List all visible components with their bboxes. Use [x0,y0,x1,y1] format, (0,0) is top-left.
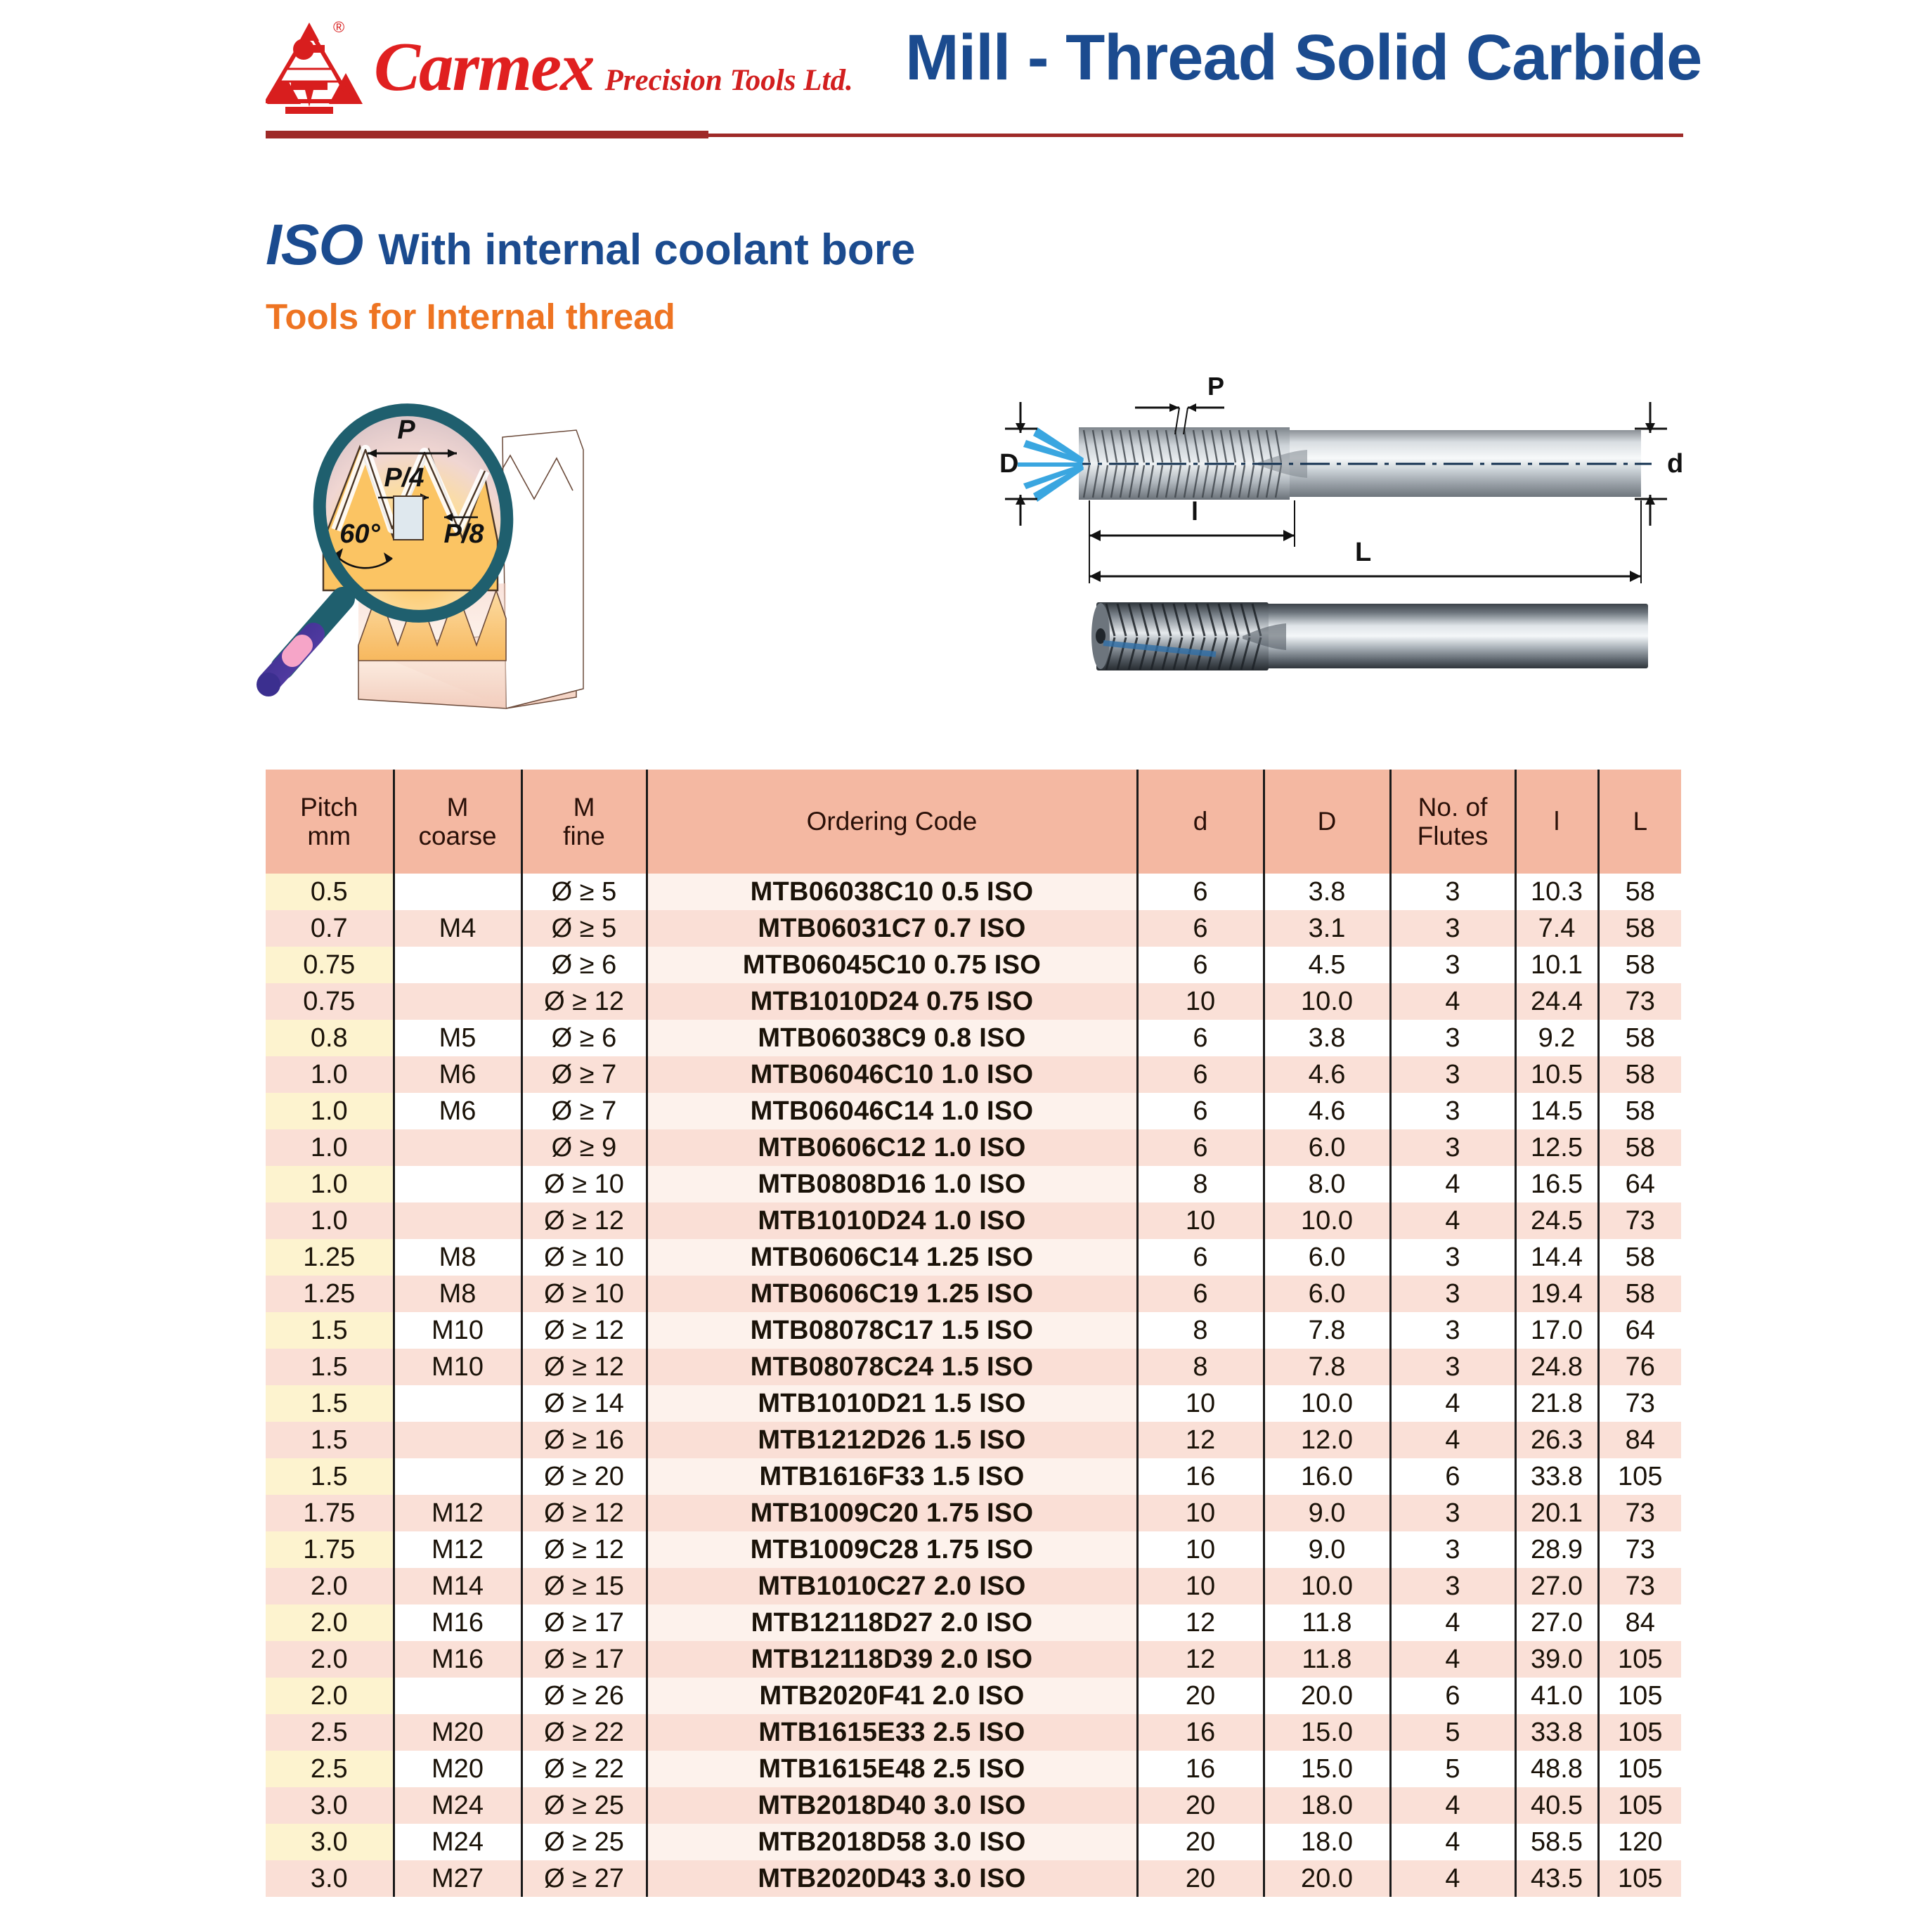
header-rule-thick [266,131,708,138]
cell-L: 58 [1598,1129,1681,1166]
cell-d: 10 [1137,1531,1264,1568]
cell-d: 10 [1137,1385,1264,1422]
cell-pitch: 1.0 [266,1202,394,1239]
cell-flutes: 3 [1390,874,1515,910]
cell-l: 10.3 [1515,874,1598,910]
cell-m-fine: Ø ≥ 14 [521,1385,647,1422]
cell-pitch: 0.7 [266,910,394,947]
col-header-pitch-line1: Pitch [266,793,393,822]
cell-l: 40.5 [1515,1787,1598,1824]
cell-pitch: 2.0 [266,1641,394,1678]
cell-flutes: 3 [1390,1349,1515,1385]
cell-L: 105 [1598,1751,1681,1787]
cell-m-coarse [394,874,521,910]
table-body: 0.5Ø ≥ 5MTB06038C10 0.5 ISO63.8310.3580.… [266,874,1681,1897]
cell-flutes: 3 [1390,1312,1515,1349]
table-row: 2.0M16Ø ≥ 17MTB12118D39 2.0 ISO1211.8439… [266,1641,1681,1678]
cell-L: 105 [1598,1787,1681,1824]
cell-ordering-code: MTB2018D58 3.0 ISO [647,1824,1137,1860]
cell-flutes: 3 [1390,1276,1515,1312]
cell-d: 6 [1137,874,1264,910]
cell-flutes: 4 [1390,1385,1515,1422]
cell-m-fine: Ø ≥ 25 [521,1787,647,1824]
cell-m-coarse [394,1678,521,1714]
cell-ordering-code: MTB1009C28 1.75 ISO [647,1531,1137,1568]
cell-d: 6 [1137,910,1264,947]
cell-ordering-code: MTB1616F33 1.5 ISO [647,1458,1137,1495]
cell-L: 58 [1598,1239,1681,1276]
cell-ordering-code: MTB06038C9 0.8 ISO [647,1020,1137,1056]
cell-D: 3.1 [1264,910,1390,947]
cell-pitch: 2.5 [266,1714,394,1751]
table-row: 2.5M20Ø ≥ 22MTB1615E33 2.5 ISO1615.0533.… [266,1714,1681,1751]
section-heading: ISO With internal coolant bore [266,216,915,274]
table-row: 1.5M10Ø ≥ 12MTB08078C24 1.5 ISO87.8324.8… [266,1349,1681,1385]
col-header-flutes: No. of Flutes [1390,770,1515,874]
table-row: 2.0Ø ≥ 26MTB2020F41 2.0 ISO2020.0641.010… [266,1678,1681,1714]
cell-l: 39.0 [1515,1641,1598,1678]
col-header-L: L [1598,770,1681,874]
cell-m-coarse [394,1458,521,1495]
cell-ordering-code: MTB2018D40 3.0 ISO [647,1787,1137,1824]
cell-D: 18.0 [1264,1787,1390,1824]
cell-pitch: 2.0 [266,1678,394,1714]
cell-pitch: 1.5 [266,1458,394,1495]
cell-ordering-code: MTB1010C27 2.0 ISO [647,1568,1137,1604]
cell-m-coarse: M6 [394,1056,521,1093]
col-header-pitch: Pitch mm [266,770,394,874]
cell-m-fine: Ø ≥ 22 [521,1751,647,1787]
cell-L: 58 [1598,910,1681,947]
table-row: 1.5Ø ≥ 20MTB1616F33 1.5 ISO1616.0633.810… [266,1458,1681,1495]
cell-D: 10.0 [1264,1568,1390,1604]
cell-pitch: 1.0 [266,1056,394,1093]
cell-d: 10 [1137,1568,1264,1604]
table-row: 1.5M10Ø ≥ 12MTB08078C17 1.5 ISO87.8317.0… [266,1312,1681,1349]
tool-photograph [1075,594,1659,682]
cell-D: 15.0 [1264,1751,1390,1787]
table-row: 1.0Ø ≥ 9MTB0606C12 1.0 ISO66.0312.558 [266,1129,1681,1166]
cell-flutes: 4 [1390,983,1515,1020]
cell-L: 73 [1598,983,1681,1020]
cell-m-coarse [394,1385,521,1422]
cell-ordering-code: MTB0606C19 1.25 ISO [647,1276,1137,1312]
cell-l: 9.2 [1515,1020,1598,1056]
cell-L: 73 [1598,1568,1681,1604]
cell-m-fine: Ø ≥ 17 [521,1641,647,1678]
cell-m-fine: Ø ≥ 17 [521,1604,647,1641]
cell-m-fine: Ø ≥ 26 [521,1678,647,1714]
table-row: 0.75Ø ≥ 12MTB1010D24 0.75 ISO1010.0424.4… [266,983,1681,1020]
cell-l: 19.4 [1515,1276,1598,1312]
col-header-coarse: M coarse [394,770,521,874]
cell-L: 58 [1598,874,1681,910]
cell-ordering-code: MTB2020D43 3.0 ISO [647,1860,1137,1897]
cell-m-coarse [394,947,521,983]
cell-pitch: 2.0 [266,1604,394,1641]
cell-D: 18.0 [1264,1824,1390,1860]
specification-table: Pitch mm M coarse M fine Ordering Code d… [266,770,1681,1897]
cell-m-coarse: M24 [394,1824,521,1860]
cell-d: 8 [1137,1349,1264,1385]
cell-flutes: 5 [1390,1714,1515,1751]
table-header: Pitch mm M coarse M fine Ordering Code d… [266,770,1681,874]
cell-m-coarse: M10 [394,1349,521,1385]
table-row: 1.5Ø ≥ 14MTB1010D21 1.5 ISO1010.0421.873 [266,1385,1681,1422]
cell-l: 10.5 [1515,1056,1598,1093]
table-row: 2.5M20Ø ≥ 22MTB1615E48 2.5 ISO1615.0548.… [266,1751,1681,1787]
drawing-P-label: P [1207,372,1224,401]
cell-l: 10.1 [1515,947,1598,983]
table-row: 1.5Ø ≥ 16MTB1212D26 1.5 ISO1212.0426.384 [266,1422,1681,1458]
table-header-row: Pitch mm M coarse M fine Ordering Code d… [266,770,1681,874]
cell-ordering-code: MTB06046C10 1.0 ISO [647,1056,1137,1093]
cell-d: 8 [1137,1312,1264,1349]
cell-m-coarse: M20 [394,1714,521,1751]
cell-d: 20 [1137,1824,1264,1860]
cell-flutes: 3 [1390,910,1515,947]
cell-L: 84 [1598,1422,1681,1458]
col-header-ordering-code: Ordering Code [647,770,1137,874]
cell-m-fine: Ø ≥ 5 [521,874,647,910]
cell-ordering-code: MTB1010D24 1.0 ISO [647,1202,1137,1239]
cell-l: 24.8 [1515,1349,1598,1385]
cell-L: 84 [1598,1604,1681,1641]
cell-m-fine: Ø ≥ 20 [521,1458,647,1495]
cell-ordering-code: MTB1010D24 0.75 ISO [647,983,1137,1020]
col-header-fine-line1: M [523,793,646,822]
cell-m-coarse: M24 [394,1787,521,1824]
col-header-coarse-line2: coarse [395,822,521,850]
cell-m-fine: Ø ≥ 7 [521,1093,647,1129]
cell-L: 58 [1598,1020,1681,1056]
cell-pitch: 1.5 [266,1385,394,1422]
cell-ordering-code: MTB1615E48 2.5 ISO [647,1751,1137,1787]
table-row: 1.25M8Ø ≥ 10MTB0606C19 1.25 ISO66.0319.4… [266,1276,1681,1312]
cell-m-fine: Ø ≥ 27 [521,1860,647,1897]
cell-m-fine: Ø ≥ 6 [521,947,647,983]
carmex-triangle-logo-icon: ® [266,14,364,119]
cell-L: 58 [1598,1276,1681,1312]
cell-pitch: 2.0 [266,1568,394,1604]
header-rule-thin [703,134,1683,137]
brand-name: Carmex [374,32,594,102]
drawing-D-label: D [999,449,1018,479]
cell-m-coarse: M8 [394,1276,521,1312]
cell-pitch: 1.0 [266,1166,394,1202]
cell-flutes: 4 [1390,1422,1515,1458]
cell-L: 105 [1598,1860,1681,1897]
cell-m-fine: Ø ≥ 12 [521,1531,647,1568]
cell-D: 16.0 [1264,1458,1390,1495]
cell-d: 20 [1137,1787,1264,1824]
table-row: 1.75M12Ø ≥ 12MTB1009C20 1.75 ISO109.0320… [266,1495,1681,1531]
cell-l: 33.8 [1515,1714,1598,1751]
iso-label: ISO [266,216,363,274]
cell-pitch: 1.75 [266,1495,394,1531]
cell-D: 6.0 [1264,1239,1390,1276]
cell-pitch: 0.75 [266,983,394,1020]
cell-d: 10 [1137,983,1264,1020]
cell-D: 10.0 [1264,1385,1390,1422]
cell-d: 12 [1137,1641,1264,1678]
cell-m-coarse: M12 [394,1495,521,1531]
page-header: ® Carmex Precision Tools Ltd. Mill - Thr… [0,0,1932,141]
page-title: Mill - Thread Solid Carbide [905,21,1701,95]
cell-D: 6.0 [1264,1129,1390,1166]
cell-flutes: 6 [1390,1458,1515,1495]
cell-d: 6 [1137,1093,1264,1129]
cell-D: 6.0 [1264,1276,1390,1312]
cell-pitch: 0.8 [266,1020,394,1056]
cell-pitch: 1.5 [266,1349,394,1385]
cell-m-coarse [394,1166,521,1202]
cell-l: 24.4 [1515,983,1598,1020]
cell-m-coarse [394,1202,521,1239]
cell-d: 6 [1137,1020,1264,1056]
cell-D: 10.0 [1264,983,1390,1020]
table-row: 3.0M24Ø ≥ 25MTB2018D40 3.0 ISO2018.0440.… [266,1787,1681,1824]
table-row: 3.0M24Ø ≥ 25MTB2018D58 3.0 ISO2018.0458.… [266,1824,1681,1860]
cell-ordering-code: MTB06046C14 1.0 ISO [647,1093,1137,1129]
cell-pitch: 3.0 [266,1860,394,1897]
cell-D: 15.0 [1264,1714,1390,1751]
cell-l: 48.8 [1515,1751,1598,1787]
cell-m-fine: Ø ≥ 9 [521,1129,647,1166]
col-header-d: d [1137,770,1264,874]
cell-m-fine: Ø ≥ 16 [521,1422,647,1458]
cell-L: 58 [1598,1093,1681,1129]
cell-m-fine: Ø ≥ 25 [521,1824,647,1860]
tool-dimension-drawing: D d P l [977,372,1701,597]
table-row: 1.25M8Ø ≥ 10MTB0606C14 1.25 ISO66.0314.4… [266,1239,1681,1276]
cell-D: 12.0 [1264,1422,1390,1458]
magnifier-p4-label: P/4 [384,463,424,493]
table-row: 1.0Ø ≥ 12MTB1010D24 1.0 ISO1010.0424.573 [266,1202,1681,1239]
cell-flutes: 4 [1390,1641,1515,1678]
cell-m-coarse [394,1422,521,1458]
col-header-pitch-line2: mm [266,822,393,850]
cell-D: 11.8 [1264,1604,1390,1641]
cell-ordering-code: MTB06038C10 0.5 ISO [647,874,1137,910]
col-header-flutes-line2: Flutes [1392,822,1515,850]
cell-m-coarse [394,983,521,1020]
cell-flutes: 4 [1390,1604,1515,1641]
cell-L: 105 [1598,1458,1681,1495]
cell-ordering-code: MTB08078C24 1.5 ISO [647,1349,1137,1385]
table-row: 0.5Ø ≥ 5MTB06038C10 0.5 ISO63.8310.358 [266,874,1681,910]
cell-L: 73 [1598,1495,1681,1531]
cell-d: 6 [1137,1129,1264,1166]
cell-ordering-code: MTB12118D27 2.0 ISO [647,1604,1137,1641]
cell-L: 105 [1598,1641,1681,1678]
cell-pitch: 1.5 [266,1422,394,1458]
thread-profile-illustration: P P/4 P/8 60° [253,380,717,710]
brand-tagline: Precision Tools Ltd. [605,65,853,96]
cell-D: 20.0 [1264,1678,1390,1714]
cell-l: 24.5 [1515,1202,1598,1239]
specification-table-wrapper: Pitch mm M coarse M fine Ordering Code d… [266,770,1681,1897]
cell-flutes: 3 [1390,1056,1515,1093]
table-row: 2.0M16Ø ≥ 17MTB12118D27 2.0 ISO1211.8427… [266,1604,1681,1641]
cell-ordering-code: MTB0606C12 1.0 ISO [647,1129,1137,1166]
cell-L: 73 [1598,1385,1681,1422]
cell-m-coarse: M4 [394,910,521,947]
cell-flutes: 4 [1390,1202,1515,1239]
cell-pitch: 0.75 [266,947,394,983]
cell-D: 3.8 [1264,874,1390,910]
cell-m-fine: Ø ≥ 12 [521,983,647,1020]
cell-l: 27.0 [1515,1604,1598,1641]
cell-ordering-code: MTB06045C10 0.75 ISO [647,947,1137,983]
cell-m-fine: Ø ≥ 15 [521,1568,647,1604]
cell-m-fine: Ø ≥ 5 [521,910,647,947]
cell-l: 17.0 [1515,1312,1598,1349]
cell-L: 73 [1598,1531,1681,1568]
table-row: 0.75Ø ≥ 6MTB06045C10 0.75 ISO64.5310.158 [266,947,1681,983]
cell-flutes: 3 [1390,1020,1515,1056]
cell-pitch: 1.5 [266,1312,394,1349]
cell-D: 4.6 [1264,1093,1390,1129]
table-row: 1.0M6Ø ≥ 7MTB06046C14 1.0 ISO64.6314.558 [266,1093,1681,1129]
col-header-coarse-line1: M [395,793,521,822]
cell-L: 58 [1598,1056,1681,1093]
cell-m-fine: Ø ≥ 10 [521,1166,647,1202]
cell-m-fine: Ø ≥ 22 [521,1714,647,1751]
col-header-fine: M fine [521,770,647,874]
cell-D: 9.0 [1264,1495,1390,1531]
table-row: 2.0M14Ø ≥ 15MTB1010C27 2.0 ISO1010.0327.… [266,1568,1681,1604]
magnifier-pitch-label: P [397,415,415,445]
cell-ordering-code: MTB06031C7 0.7 ISO [647,910,1137,947]
cell-m-coarse: M10 [394,1312,521,1349]
cell-D: 4.5 [1264,947,1390,983]
cell-m-coarse: M8 [394,1239,521,1276]
cell-m-coarse: M16 [394,1641,521,1678]
carmex-logo: ® Carmex Precision Tools Ltd. [266,14,853,119]
cell-d: 6 [1137,1239,1264,1276]
cell-flutes: 3 [1390,1239,1515,1276]
cell-flutes: 3 [1390,1129,1515,1166]
cell-d: 20 [1137,1860,1264,1897]
cell-m-coarse: M6 [394,1093,521,1129]
cell-pitch: 1.25 [266,1239,394,1276]
cell-d: 12 [1137,1422,1264,1458]
cell-m-fine: Ø ≥ 7 [521,1056,647,1093]
cell-pitch: 3.0 [266,1824,394,1860]
cell-m-fine: Ø ≥ 6 [521,1020,647,1056]
cell-L: 73 [1598,1202,1681,1239]
cell-D: 20.0 [1264,1860,1390,1897]
cell-L: 64 [1598,1166,1681,1202]
cell-ordering-code: MTB12118D39 2.0 ISO [647,1641,1137,1678]
cell-l: 21.8 [1515,1385,1598,1422]
cell-pitch: 0.5 [266,874,394,910]
cell-l: 16.5 [1515,1166,1598,1202]
cell-m-coarse [394,1129,521,1166]
col-header-flutes-line1: No. of [1392,793,1515,822]
cell-l: 26.3 [1515,1422,1598,1458]
cell-L: 105 [1598,1714,1681,1751]
cell-l: 14.4 [1515,1239,1598,1276]
magnifier-p8-label: P/8 [443,519,484,549]
cell-pitch: 1.75 [266,1531,394,1568]
cell-d: 16 [1137,1458,1264,1495]
cell-pitch: 2.5 [266,1751,394,1787]
cell-l: 20.1 [1515,1495,1598,1531]
cell-d: 6 [1137,1056,1264,1093]
cell-flutes: 4 [1390,1166,1515,1202]
cell-ordering-code: MTB0808D16 1.0 ISO [647,1166,1137,1202]
cell-flutes: 6 [1390,1678,1515,1714]
cell-d: 6 [1137,1276,1264,1312]
cell-pitch: 1.25 [266,1276,394,1312]
cell-m-fine: Ø ≥ 12 [521,1495,647,1531]
cell-l: 12.5 [1515,1129,1598,1166]
cell-D: 8.0 [1264,1166,1390,1202]
cell-d: 20 [1137,1678,1264,1714]
cell-ordering-code: MTB1009C20 1.75 ISO [647,1495,1137,1531]
cell-flutes: 3 [1390,1531,1515,1568]
cell-D: 7.8 [1264,1349,1390,1385]
drawing-L-label: L [1355,538,1371,567]
cell-D: 3.8 [1264,1020,1390,1056]
cell-l: 14.5 [1515,1093,1598,1129]
cell-pitch: 3.0 [266,1787,394,1824]
cell-d: 16 [1137,1751,1264,1787]
cell-m-fine: Ø ≥ 12 [521,1349,647,1385]
cell-m-coarse: M20 [394,1751,521,1787]
cell-flutes: 3 [1390,1495,1515,1531]
cell-pitch: 1.0 [266,1129,394,1166]
magnifier-angle-label: 60° [339,519,380,549]
cell-l: 7.4 [1515,910,1598,947]
cell-d: 8 [1137,1166,1264,1202]
cell-m-coarse: M5 [394,1020,521,1056]
cell-flutes: 4 [1390,1824,1515,1860]
cell-flutes: 3 [1390,1093,1515,1129]
cell-m-fine: Ø ≥ 10 [521,1239,647,1276]
cell-d: 12 [1137,1604,1264,1641]
cell-m-coarse: M14 [394,1568,521,1604]
svg-text:®: ® [333,18,344,36]
cell-flutes: 4 [1390,1860,1515,1897]
col-header-l: l [1515,770,1598,874]
cell-L: 76 [1598,1349,1681,1385]
cell-l: 27.0 [1515,1568,1598,1604]
cell-D: 11.8 [1264,1641,1390,1678]
cell-D: 10.0 [1264,1202,1390,1239]
section-subtitle: Tools for Internal thread [266,299,675,335]
cell-d: 10 [1137,1495,1264,1531]
cell-D: 9.0 [1264,1531,1390,1568]
cell-d: 16 [1137,1714,1264,1751]
cell-d: 10 [1137,1202,1264,1239]
drawing-l-label: l [1191,497,1198,526]
cell-m-coarse: M27 [394,1860,521,1897]
cell-d: 6 [1137,947,1264,983]
cell-L: 105 [1598,1678,1681,1714]
cell-flutes: 4 [1390,1787,1515,1824]
table-row: 0.7M4Ø ≥ 5MTB06031C7 0.7 ISO63.137.458 [266,910,1681,947]
cell-l: 41.0 [1515,1678,1598,1714]
cell-flutes: 5 [1390,1751,1515,1787]
cell-l: 33.8 [1515,1458,1598,1495]
cell-l: 43.5 [1515,1860,1598,1897]
cell-m-fine: Ø ≥ 12 [521,1202,647,1239]
cell-ordering-code: MTB2020F41 2.0 ISO [647,1678,1137,1714]
cell-D: 7.8 [1264,1312,1390,1349]
